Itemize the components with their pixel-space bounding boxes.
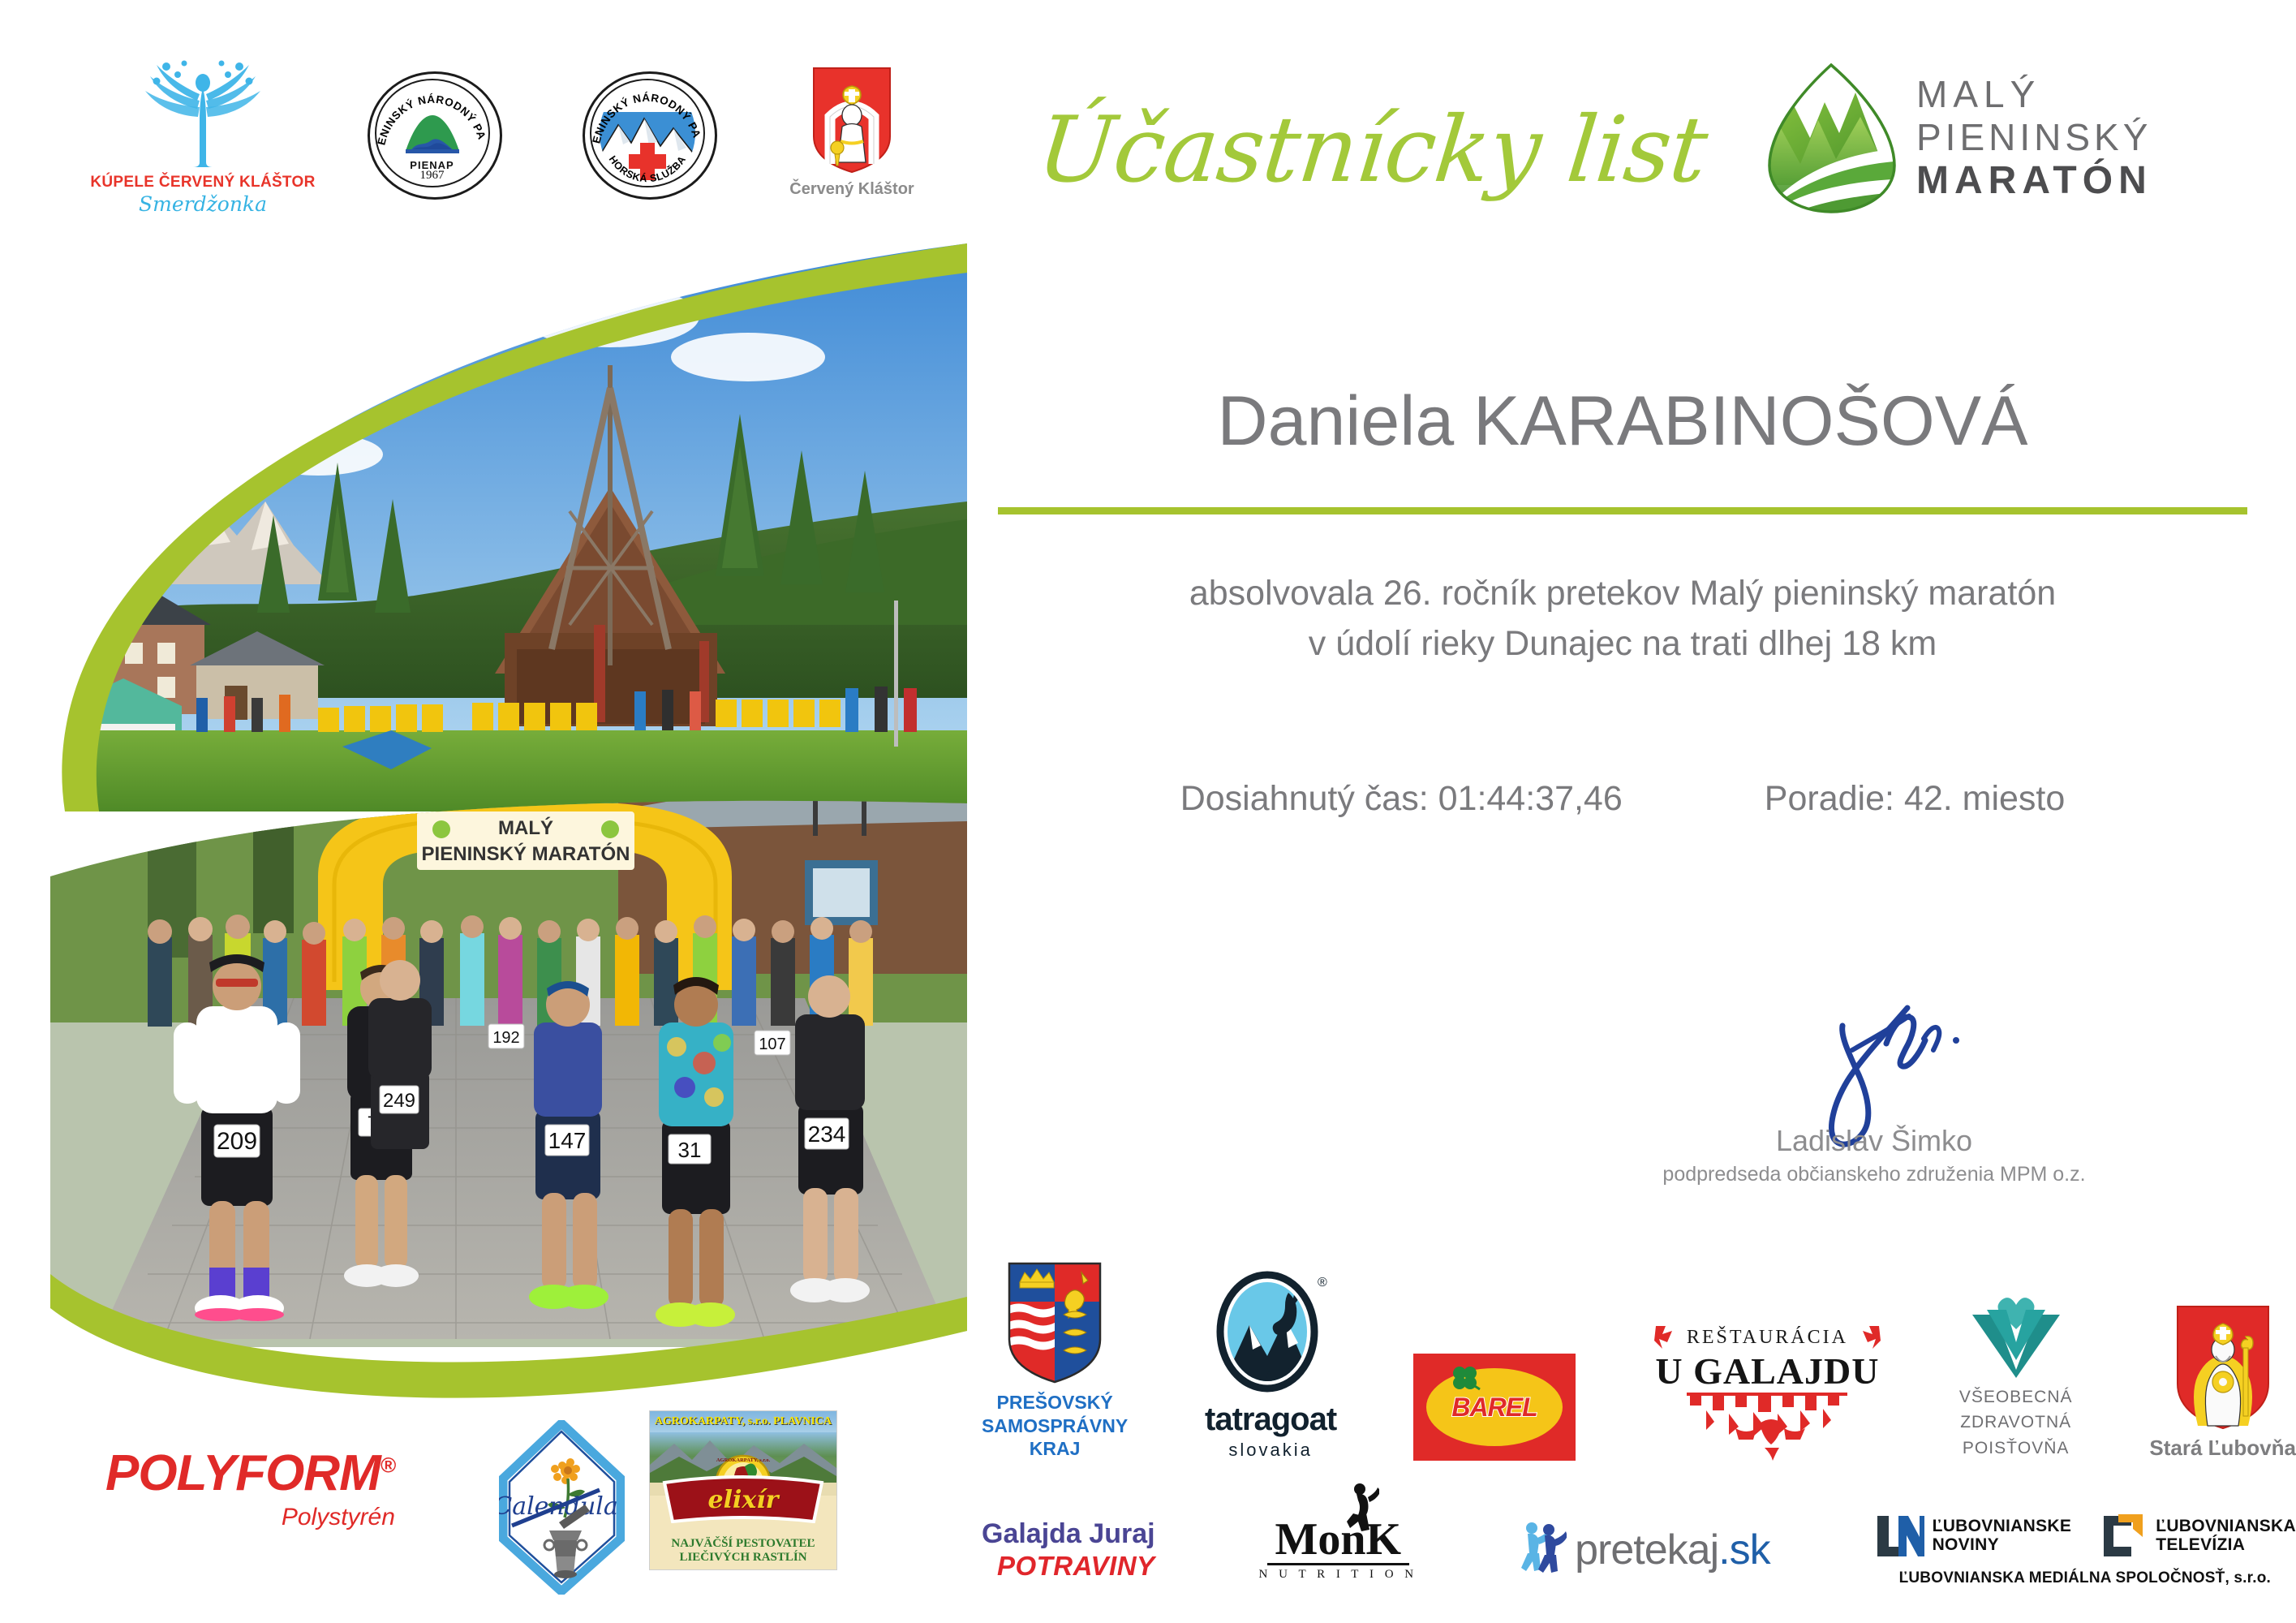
divider	[1267, 1563, 1409, 1565]
name-divider-rule	[998, 507, 2247, 514]
sponsor-line1: Galajda Juraj	[982, 1518, 1155, 1550]
sponsor-line2: TELEVÍZIA	[2156, 1536, 2296, 1555]
sponsor-polyform: POLYFORM® Polystyrén	[105, 1444, 395, 1531]
sponsor-line2: POTRAVINY	[997, 1551, 1155, 1582]
sponsor-wordmark: tatragoat	[1205, 1401, 1336, 1438]
sponsor-presovsky-samospravny-kraj: PREŠOVSKÝ SAMOSPRÁVNY KRAJ	[982, 1261, 1128, 1461]
sponsor-wordmark: U GALAJDU	[1655, 1352, 1879, 1391]
sponsor-monk-nutrition: MonK N U T R I T I O N	[1259, 1518, 1418, 1582]
svg-text:209: 209	[217, 1128, 257, 1155]
clover-icon	[1449, 1363, 1481, 1394]
sponsor-lubovnianska-medialna-spolocnost: ĽUBOVNIANSKE NOVINY ĽUBOVNIANSKA TELEVÍZ…	[1874, 1513, 2296, 1587]
rank-value: 42. miesto	[1904, 779, 2065, 818]
sponsor-caption-2: LIEČIVÝCH RASTLÍN	[679, 1551, 806, 1565]
partner-logo-kupele-cerveny-klastor: KÚPELE ČERVENÝ KLÁŠTOR Smerdžonka	[81, 57, 325, 216]
folk-ornament-icon	[1860, 1324, 1882, 1352]
partner-caption: Červený Kláštor	[789, 180, 914, 199]
svg-text:31: 31	[678, 1138, 702, 1162]
achievement-line-2: v údolí rieky Dunajec na trati dlhej 18 …	[965, 618, 2280, 669]
sponsor-galajda-juraj: Galajda Juraj POTRAVINY	[982, 1518, 1155, 1582]
certificate-title: Účastnícky list	[1033, 97, 1712, 203]
sponsor-caption: PREŠOVSKÝ SAMOSPRÁVNY KRAJ	[982, 1391, 1128, 1461]
partner-logo-obec-cerveny-klastor: Červený Kláštor	[755, 57, 949, 199]
partner-logo-pienap: PIENINSKÝ NÁRODNÝ PARK PIENAP 1967	[325, 57, 540, 195]
event-logo-line1: MALÝ	[1916, 75, 2152, 113]
svg-text:107: 107	[759, 1035, 785, 1053]
photo-panel: MALÝ PIENINSKÝ MARATÓN	[50, 243, 967, 1436]
sponsor-pretekaj-sk: pretekaj.sk	[1521, 1520, 1769, 1580]
sponsor-tld: .sk	[1718, 1526, 1769, 1573]
partner-caption-primary: KÚPELE ČERVENÝ KLÁŠTOR	[90, 174, 315, 192]
signatory-name: Ladislav Šimko	[1627, 1124, 2122, 1158]
event-logo-line3: MARATÓN	[1916, 161, 2152, 200]
sponsors-row-1: PREŠOVSKÝ SAMOSPRÁVNY KRAJ ® tatragoat s…	[982, 1233, 2296, 1461]
pienap-year: 1967	[368, 169, 497, 183]
v-heart-icon	[1967, 1282, 2065, 1380]
ln-monogram-icon	[1874, 1513, 1924, 1560]
partner-logo-horska-sluzba: PIENINSKÝ NÁRODNÝ PARK HORSKÁ SLUŽBA	[540, 57, 755, 195]
finish-time-label: Dosiahnutý čas:	[1180, 779, 1429, 818]
sponsor-line2: NOVINY	[1933, 1536, 2072, 1555]
sponsor-caption-1: NAJVÄČŠÍ PESTOVATEĽ	[671, 1537, 815, 1551]
bishop-shield-icon	[2175, 1304, 2271, 1431]
water-angel-icon	[124, 57, 282, 170]
sponsor-caption: VŠEOBECNÁ ZDRAVOTNÁ POISŤOVŇA	[1959, 1384, 2073, 1462]
mountain-leaf-icon	[1765, 63, 1898, 213]
sponsor-brand: elixír	[708, 1486, 779, 1514]
result-row: Dosiahnutý čas: 01:44:37,46 Poradie: 42.…	[965, 779, 2280, 819]
sponsor-toptext: REŠTAURÁCIA	[1687, 1327, 1848, 1349]
achievement-line-1: absolvovala 26. ročník pretekov Malý pie…	[965, 568, 2280, 618]
sponsor-lubovnianska-televizia: ĽUBOVNIANSKA TELEVÍZIA	[2100, 1513, 2296, 1560]
rank: Poradie: 42. miesto	[1765, 779, 2066, 819]
rank-label: Poradie:	[1765, 779, 1894, 818]
event-logo-line2: PIENINSKÝ	[1916, 118, 2152, 156]
coat-of-arms-icon	[1007, 1261, 1103, 1384]
svg-text:192: 192	[492, 1029, 519, 1047]
photo-marathon-start: MALÝ PIENINSKÝ MARATÓN	[50, 779, 967, 1347]
folk-ornament-icon	[1682, 1391, 1852, 1461]
partner-caption-secondary: Smerdžonka	[139, 192, 267, 216]
sponsor-subtitle: Polystyrén	[105, 1504, 395, 1531]
svg-text:249: 249	[383, 1090, 415, 1112]
sponsor-toptext: AGROKARPATY, s.r.o. PLAVNICA	[650, 1411, 836, 1432]
sponsor-lubovnianske-noviny: ĽUBOVNIANSKE NOVINY	[1874, 1513, 2072, 1560]
sponsor-wordmark: pretekaj	[1575, 1526, 1718, 1573]
arch-line1: MALÝ	[498, 816, 553, 839]
sponsor-wordmark: POLYFORM	[105, 1445, 381, 1501]
signatory-role: podpredseda občianskeho združenia MPM o.…	[1627, 1163, 2122, 1186]
photo-amphitheatre	[50, 243, 967, 811]
sponsor-barel: BAREL	[1413, 1354, 1576, 1461]
sponsor-subtitle: slovakia	[1228, 1440, 1312, 1461]
svg-text:AGROKARPATY, s.r.o.: AGROKARPATY, s.r.o.	[716, 1457, 771, 1463]
registered-mark: ®	[381, 1453, 395, 1477]
sponsors-row-2: Galajda Juraj POTRAVINY MonK N U T R I T…	[982, 1493, 2296, 1607]
park-oval-icon: PIENINSKÝ NÁRODNÝ PARK PIENAP 1967	[368, 71, 497, 195]
arch-line2: PIENINSKÝ MARATÓN	[422, 842, 630, 865]
sponsor-stara-lubovna: Stará Ľubovňa	[2149, 1304, 2296, 1461]
signature-block: Ladislav Šimko podpredseda občianskeho z…	[1627, 998, 2122, 1186]
finish-time-value: 01:44:37,46	[1438, 779, 1623, 818]
sponsor-calendula: Calendula	[499, 1420, 625, 1595]
event-logo: MALÝ PIENINSKÝ MARATÓN	[1765, 61, 2284, 215]
sponsor-vseobecna-zdravotna-poistovna: VŠEOBECNÁ ZDRAVOTNÁ POISŤOVŇA	[1959, 1282, 2073, 1462]
running-figure-icon	[1335, 1483, 1379, 1531]
folk-ornament-icon	[1653, 1324, 1675, 1352]
svg-text:234: 234	[808, 1121, 846, 1147]
sponsor-agrokarpaty-elixir: AGROKARPATY, s.r.o. PLAVNICA AGROKARPATY…	[649, 1410, 837, 1570]
monk-shield-icon	[812, 67, 892, 174]
sponsor-line1: ĽUBOVNIANSKE	[1933, 1518, 2072, 1536]
recipient-name: Daniela KARABINOŠOVÁ	[965, 381, 2280, 462]
runners-icon	[1521, 1520, 1567, 1580]
sponsor-wordmark: BAREL	[1451, 1393, 1537, 1423]
partner-logos: KÚPELE ČERVENÝ KLÁŠTOR Smerdžonka PIENIN…	[81, 57, 949, 243]
sponsor-caption: Stará Ľubovňa	[2149, 1436, 2296, 1461]
sponsor-caption: ĽUBOVNIANSKA MEDIÁLNA SPOLOČNOSŤ, s.r.o.	[1899, 1569, 2271, 1587]
finish-time: Dosiahnutý čas: 01:44:37,46	[1180, 779, 1623, 819]
sponsor-line1: ĽUBOVNIANSKA	[2156, 1518, 2296, 1536]
mountain-rescue-icon: PIENINSKÝ NÁRODNÝ PARK HORSKÁ SLUŽBA	[583, 71, 712, 195]
lt-monogram-icon	[2100, 1513, 2148, 1560]
goat-mountain-icon: ®	[1214, 1268, 1327, 1398]
sponsor-tatragoat: ® tatragoat slovakia	[1205, 1268, 1336, 1461]
achievement-text: absolvovala 26. ročník pretekov Malý pie…	[965, 568, 2280, 669]
sponsor-subtitle: N U T R I T I O N	[1259, 1568, 1418, 1582]
svg-text:147: 147	[548, 1128, 587, 1153]
svg-text:®: ®	[1318, 1276, 1327, 1289]
sponsor-u-galajdu: REŠTAURÁCIA U GALAJDU	[1653, 1324, 1882, 1461]
